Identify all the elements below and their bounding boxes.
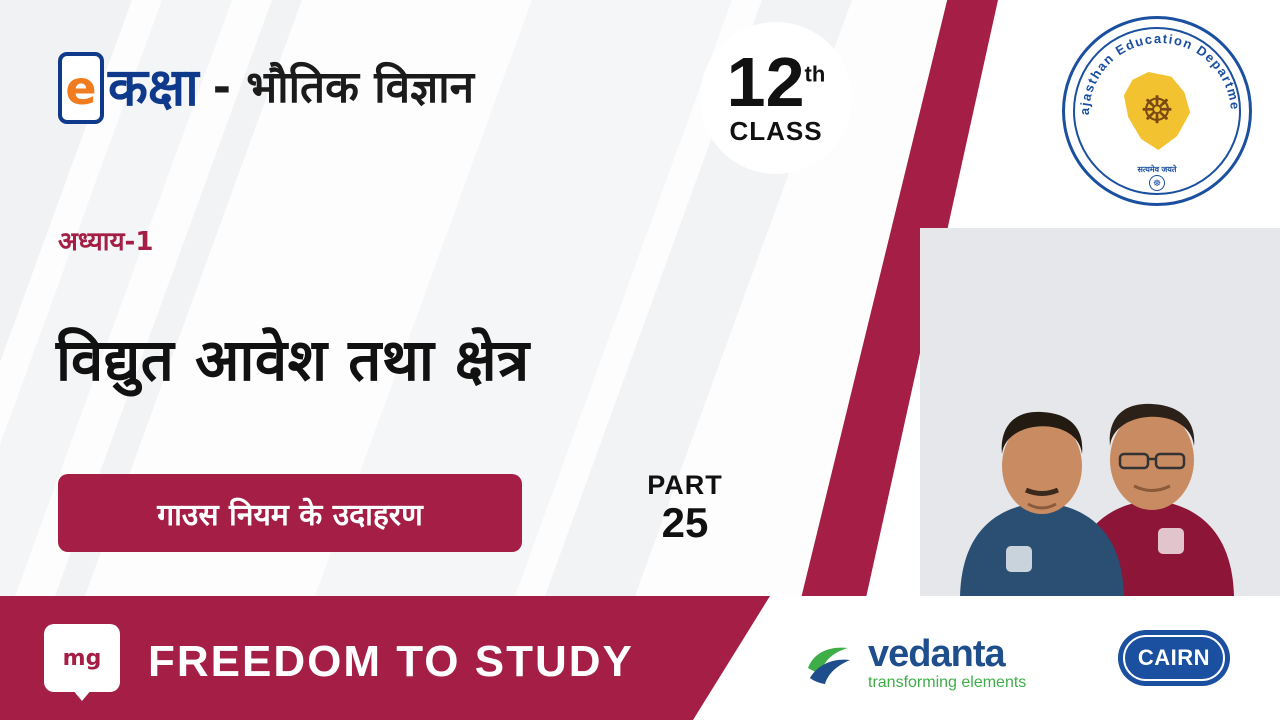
vedanta-text-block: vedanta transforming elements <box>868 635 1026 692</box>
topic-label: गाउस नियम के उदाहरण <box>157 493 423 534</box>
mg-logo: mg <box>44 624 120 692</box>
subject-title: - भौतिक विज्ञान <box>213 66 474 110</box>
class-badge: 12th CLASS <box>700 22 852 174</box>
ekaksha-logo: e कक्षा - भौतिक विज्ञान <box>58 52 474 124</box>
class-ordinal: th <box>805 62 826 87</box>
part-number: 25 <box>630 501 740 545</box>
presenters-illustration <box>920 228 1280 596</box>
presenters-photo <box>920 228 1280 596</box>
logo-letter-e: e <box>62 56 100 120</box>
topic-pill: गाउस नियम के उदाहरण <box>58 474 522 552</box>
vedanta-sponsor-logo: vedanta transforming elements <box>800 634 1026 692</box>
class-number-value: 12 <box>727 43 805 121</box>
chapter-label: अध्याय-1 <box>58 222 153 258</box>
logo-word-kaksha: कक्षा <box>108 62 199 114</box>
seal-center-mark: ☸ <box>1149 175 1165 191</box>
class-number: 12th <box>727 49 826 116</box>
ashoka-emblem-icon: ☸ <box>1140 92 1174 130</box>
footer-bar: mg FREEDOM TO STUDY vedanta transforming… <box>0 596 1280 720</box>
seal-motto: सत्यमेव जयते <box>1138 164 1177 175</box>
cairn-name: CAIRN <box>1138 645 1210 671</box>
phone-icon: e <box>58 52 104 124</box>
vedanta-mark-icon <box>800 634 858 692</box>
slide-canvas: e कक्षा - भौतिक विज्ञान 12th CLASS Rajas… <box>0 0 1280 720</box>
page-title: विद्युत आवेश तथा क्षेत्र <box>56 318 530 397</box>
cairn-sponsor-logo: CAIRN <box>1118 630 1230 686</box>
vedanta-name: vedanta <box>868 635 1026 675</box>
vedanta-tagline: transforming elements <box>868 675 1026 692</box>
mg-logo-text: mg <box>63 646 102 671</box>
part-block: PART 25 <box>630 470 740 545</box>
part-label: PART <box>630 470 740 501</box>
rajasthan-education-department-seal: Rajasthan Education Department ☸ सत्यमेव… <box>1062 16 1252 206</box>
footer-tagline: FREEDOM TO STUDY <box>148 637 634 687</box>
